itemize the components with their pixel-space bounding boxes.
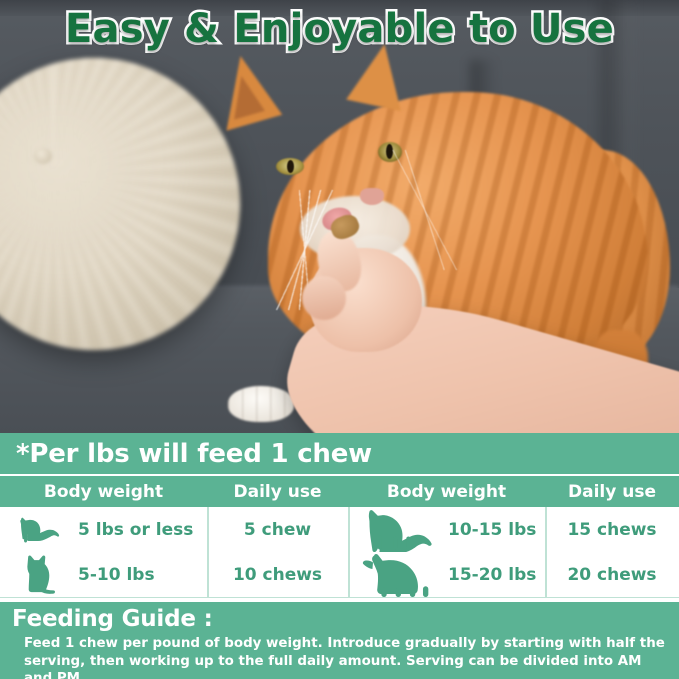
sitting-cat-icon <box>0 555 78 595</box>
cat-left-pupil <box>287 160 294 173</box>
cell-weight-large-text: 15-20 lbs <box>448 565 545 585</box>
table-header-row: Body weight Daily use Body weight Daily … <box>0 476 679 507</box>
table-title-text: *Per lbs will feed 1 chew <box>0 439 372 469</box>
column-divider-1 <box>207 507 209 597</box>
cell-use-small-med: 10 chews <box>207 552 348 597</box>
cell-weight-large: 15-20 lbs <box>348 552 545 597</box>
cell-weight-medium: 10-15 lbs <box>348 507 545 552</box>
column-divider-3 <box>545 507 547 597</box>
table-row: 5 lbs or less 5 chew 10-15 lbs 15 chews <box>0 507 679 553</box>
page-title: Easy & Enjoyable to Use <box>0 6 679 52</box>
cell-use-medium: 15 chews <box>545 507 679 552</box>
column-divider-2 <box>348 507 350 597</box>
table-title-banner: *Per lbs will feed 1 chew <box>0 433 679 474</box>
product-infographic: Easy & Enjoyable to Use *Per lbs will fe… <box>0 0 679 679</box>
cell-weight-small-text: 5 lbs or less <box>78 520 207 540</box>
column-header-daily-use-1: Daily use <box>207 476 348 507</box>
column-header-body-weight-1: Body weight <box>0 476 207 507</box>
thumb <box>302 276 346 320</box>
cell-weight-small: 5 lbs or less <box>0 507 207 552</box>
large-chubby-cat-icon <box>348 553 448 597</box>
feeding-guide-body: Feed 1 chew per pound of body weight. In… <box>0 632 679 679</box>
cat-front-paw <box>228 386 294 422</box>
small-walking-cat-icon <box>0 515 78 545</box>
column-header-body-weight-2: Body weight <box>348 476 545 507</box>
cell-weight-small-med-text: 5-10 lbs <box>78 565 207 585</box>
column-header-daily-use-2: Daily use <box>545 476 679 507</box>
hero-photo: Easy & Enjoyable to Use <box>0 0 679 433</box>
pillow-button <box>34 148 52 164</box>
cell-use-small: 5 chew <box>207 507 348 552</box>
feeding-guide-title: Feeding Guide : <box>0 602 679 632</box>
table-row: 5-10 lbs 10 chews 15-20 lbs 20 <box>0 552 679 598</box>
cell-weight-small-med: 5-10 lbs <box>0 552 207 597</box>
medium-walking-cat-icon <box>348 508 448 552</box>
cell-use-large: 20 chews <box>545 552 679 597</box>
cell-weight-medium-text: 10-15 lbs <box>448 520 545 540</box>
feeding-guide-banner: Feeding Guide : Feed 1 chew per pound of… <box>0 602 679 679</box>
